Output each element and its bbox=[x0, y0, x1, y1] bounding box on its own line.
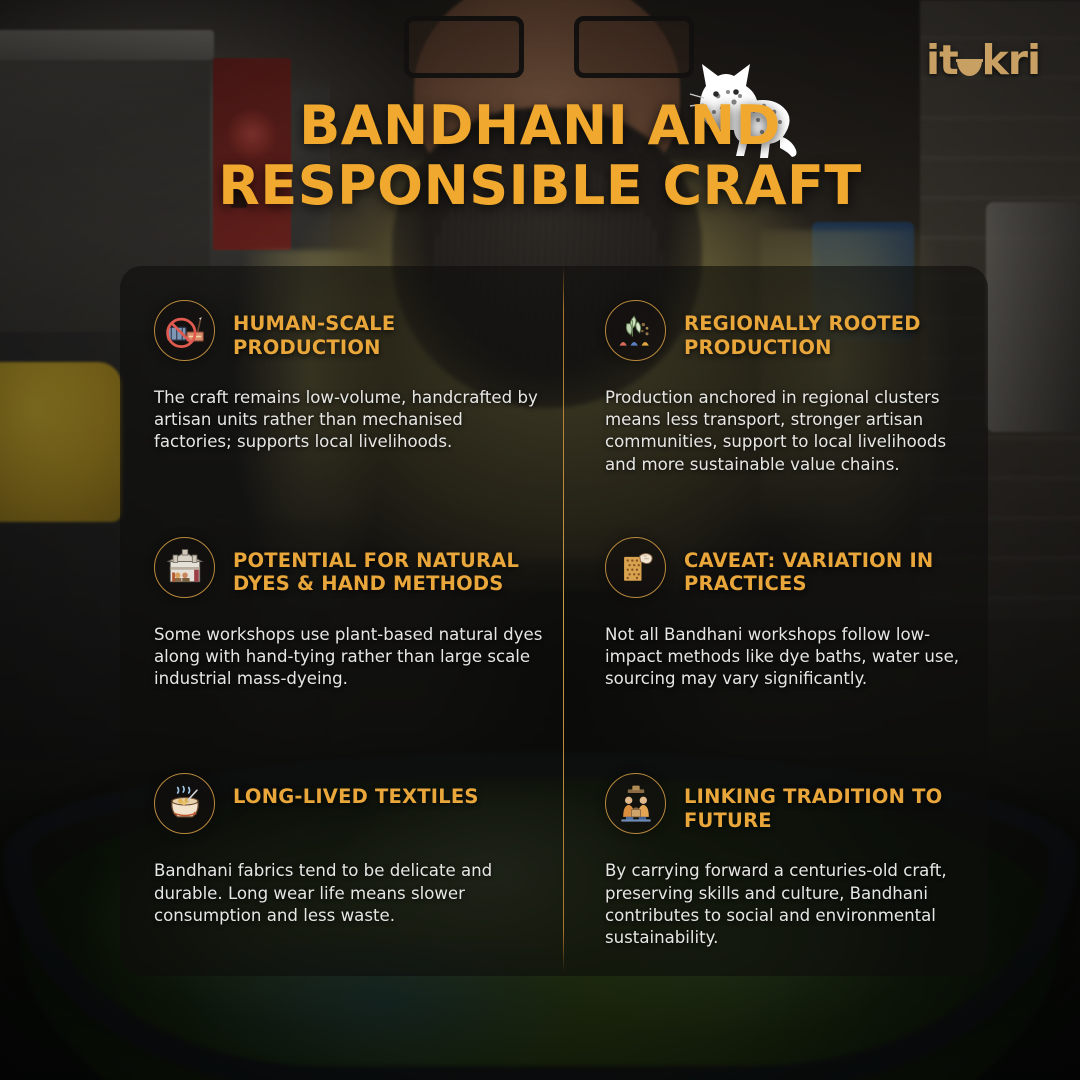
card-title: CAVEAT: VARIATION IN PRACTICES bbox=[684, 537, 968, 597]
card-body: By carrying forward a centuries-old craf… bbox=[605, 860, 968, 949]
card-body: Not all Bandhani workshops follow low-im… bbox=[605, 624, 968, 691]
title-line-2: RESPONSIBLE CRAFT bbox=[120, 156, 960, 216]
logo-text-right: kri bbox=[981, 36, 1040, 84]
card-header: CAVEAT: VARIATION IN PRACTICES bbox=[605, 537, 968, 598]
card-body: Some workshops use plant-based natural d… bbox=[154, 624, 545, 691]
card-title: POTENTIAL FOR NATURAL DYES & HAND METHOD… bbox=[233, 537, 533, 597]
workshop-building-icon bbox=[154, 537, 215, 598]
card-body: Bandhani fabrics tend to be delicate and… bbox=[154, 860, 545, 927]
card-title: LINKING TRADITION TO FUTURE bbox=[684, 773, 968, 833]
feature-card-long-lived-textiles: LONG-LIVED TEXTILES Bandhani fabrics ten… bbox=[120, 739, 563, 976]
feature-card-caveat-variation-in-practices: CAVEAT: VARIATION IN PRACTICES Not all B… bbox=[563, 503, 988, 740]
feature-grid: HUMAN-SCALE PRODUCTION The craft remains… bbox=[120, 266, 988, 976]
card-header: POTENTIAL FOR NATURAL DYES & HAND METHOD… bbox=[154, 537, 545, 598]
card-header: LONG-LIVED TEXTILES bbox=[154, 773, 545, 834]
card-title: LONG-LIVED TEXTILES bbox=[233, 773, 479, 809]
infographic-poster: itkri BANDHANI AND RESPONSIBLE CRAFT bbox=[0, 0, 1080, 1080]
natural-dye-leaves-icon bbox=[605, 300, 666, 361]
page-title: BANDHANI AND RESPONSIBLE CRAFT bbox=[0, 96, 1080, 217]
card-title: HUMAN-SCALE PRODUCTION bbox=[233, 300, 533, 360]
two-artisans-icon bbox=[605, 773, 666, 834]
content-panel: HUMAN-SCALE PRODUCTION The craft remains… bbox=[120, 266, 988, 976]
card-body: Production anchored in regional clusters… bbox=[605, 387, 968, 476]
feature-card-regionally-rooted-production: REGIONALLY ROOTED PRODUCTION Production … bbox=[563, 266, 988, 503]
card-body: The craft remains low-volume, handcrafte… bbox=[154, 387, 545, 454]
feature-card-linking-tradition-to-future: LINKING TRADITION TO FUTURE By carrying … bbox=[563, 739, 988, 976]
hand-holding-fabric-icon bbox=[605, 537, 666, 598]
steaming-dye-pot-icon bbox=[154, 773, 215, 834]
title-line-1: BANDHANI AND bbox=[299, 94, 781, 157]
card-header: REGIONALLY ROOTED PRODUCTION bbox=[605, 300, 968, 361]
feature-card-human-scale-production: HUMAN-SCALE PRODUCTION The craft remains… bbox=[120, 266, 563, 503]
card-header: LINKING TRADITION TO FUTURE bbox=[605, 773, 968, 834]
logo-text-left: it bbox=[926, 36, 958, 84]
card-header: HUMAN-SCALE PRODUCTION bbox=[154, 300, 545, 361]
logo-basket-icon bbox=[957, 50, 982, 75]
feature-card-natural-dyes-hand-methods: POTENTIAL FOR NATURAL DYES & HAND METHOD… bbox=[120, 503, 563, 740]
card-title: REGIONALLY ROOTED PRODUCTION bbox=[684, 300, 968, 360]
brand-logo[interactable]: itkri bbox=[926, 40, 1040, 81]
no-factory-icon bbox=[154, 300, 215, 361]
